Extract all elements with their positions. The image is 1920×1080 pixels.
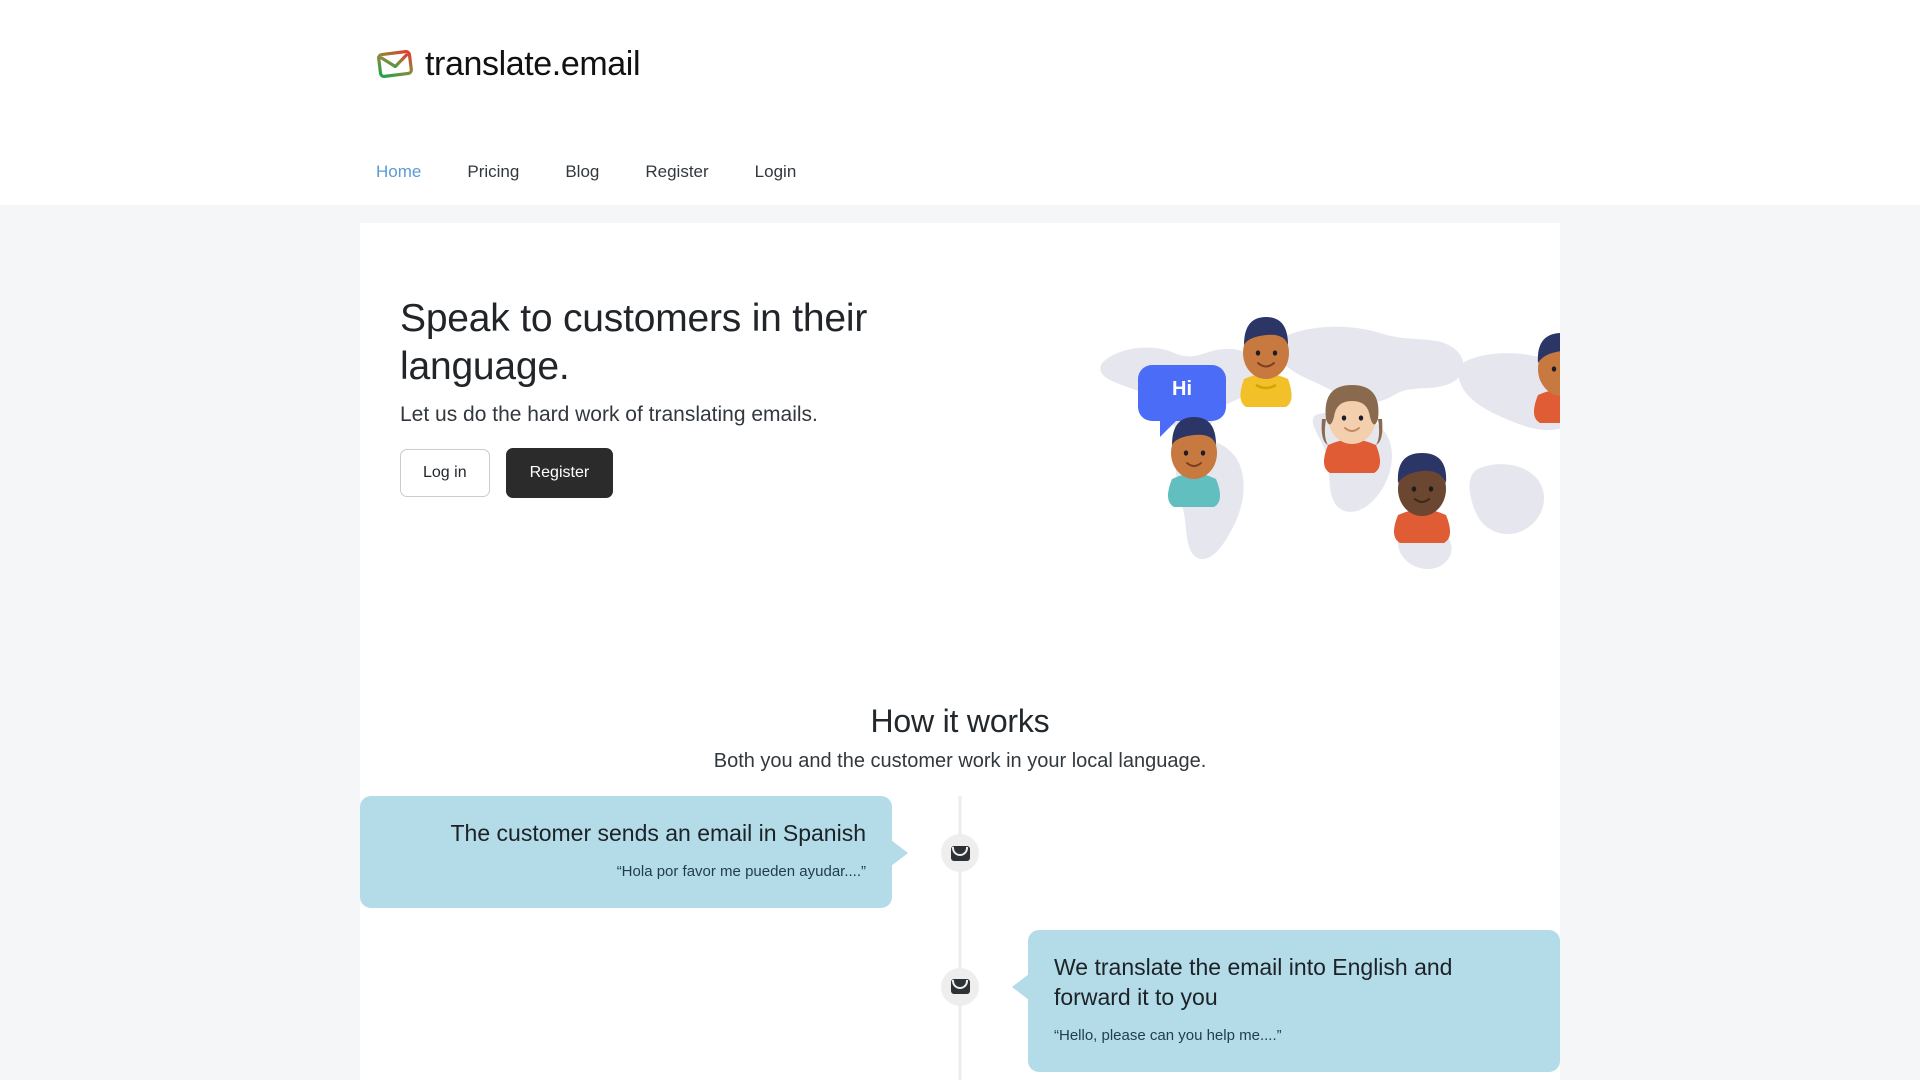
envelope-gradient-icon: [376, 47, 414, 81]
login-button[interactable]: Log in: [400, 449, 490, 497]
site-header: translate.email Home Pricing Blog Regist…: [0, 0, 1920, 205]
register-button[interactable]: Register: [506, 448, 614, 498]
avatar-person-5: [1534, 333, 1560, 423]
timeline-bubble: We translate the email into English and …: [1028, 930, 1560, 1072]
how-it-works-timeline: The customer sends an email in Spanish “…: [360, 796, 1560, 1080]
hero-title: Speak to customers in their language.: [400, 295, 870, 390]
nav-item-login[interactable]: Login: [755, 158, 797, 186]
nav-item-pricing[interactable]: Pricing: [467, 158, 519, 186]
brand-name: translate.email: [425, 47, 640, 81]
timeline-step-title: We translate the email into English and …: [1054, 952, 1534, 1013]
svg-text:Hi: Hi: [1172, 378, 1192, 400]
how-it-works-section: How it works Both you and the customer w…: [360, 643, 1560, 1080]
timeline-bubble: The customer sends an email in Spanish “…: [360, 796, 892, 908]
timeline-step: The customer sends an email in Spanish “…: [360, 796, 1560, 908]
avatar-person-1: [1240, 317, 1291, 407]
hero-copy: Speak to customers in their language. Le…: [360, 283, 980, 498]
page-body: Speak to customers in their language. Le…: [0, 205, 1920, 1080]
how-it-works-subtitle: Both you and the customer work in your l…: [360, 748, 1560, 774]
envelope-icon: [941, 834, 979, 872]
timeline-step-quote: “Hola por favor me pueden ayudar....”: [386, 861, 866, 882]
hero-subtitle: Let us do the hard work of translating e…: [400, 401, 980, 429]
speech-bubble-hi: Hi: [1138, 365, 1226, 437]
brand-logo-link[interactable]: translate.email: [376, 47, 640, 81]
how-it-works-title: How it works: [360, 703, 1560, 740]
avatar-person-4: [1394, 453, 1450, 543]
timeline-step-title: The customer sends an email in Spanish: [386, 818, 866, 849]
nav-item-register[interactable]: Register: [645, 158, 708, 186]
avatar-person-3: [1322, 385, 1383, 473]
hero-actions: Log in Register: [400, 448, 980, 498]
nav-item-home[interactable]: Home: [376, 158, 421, 186]
envelope-icon: [941, 968, 979, 1006]
timeline-step-quote: “Hello, please can you help me....”: [1054, 1025, 1534, 1046]
header-inner: translate.email Home Pricing Blog Regist…: [360, 0, 1560, 205]
world-map-people-illustration: Hi: [1048, 243, 1560, 603]
avatar-person-2: [1168, 417, 1220, 507]
timeline-step: We translate the email into English and …: [360, 930, 1560, 1072]
content-card: Speak to customers in their language. Le…: [360, 223, 1560, 1080]
hero-section: Speak to customers in their language. Le…: [360, 223, 1560, 643]
main-navigation: Home Pricing Blog Register Login: [376, 158, 796, 186]
nav-item-blog[interactable]: Blog: [565, 158, 599, 186]
